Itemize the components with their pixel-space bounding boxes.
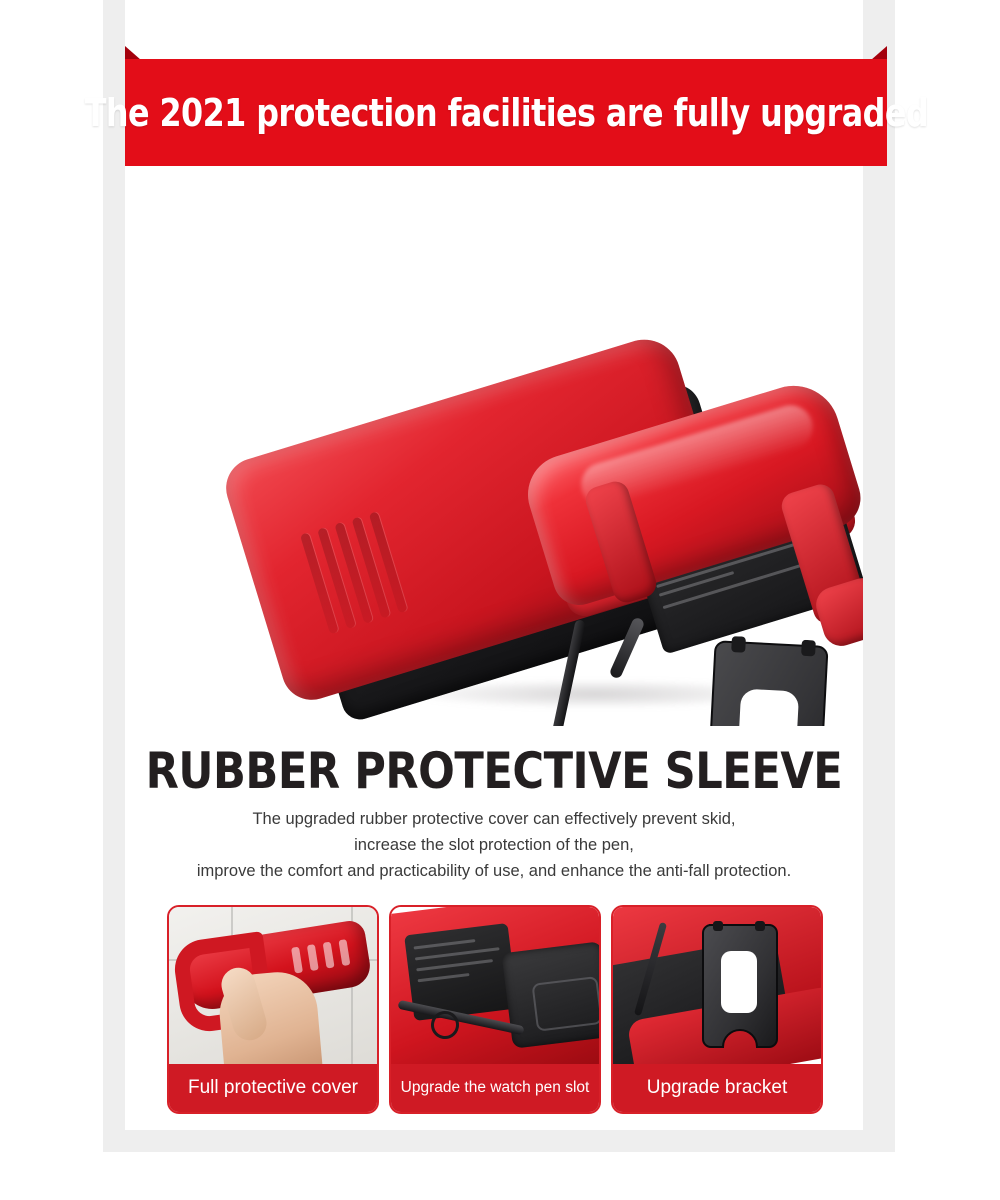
feature-caption: Full protective cover [169, 1064, 377, 1112]
banner-fold-left-icon [125, 46, 141, 60]
description-line-2: increase the slot protection of the pen, [125, 832, 863, 858]
product-marketing-page: The 2021 protection facilities are fully… [0, 0, 1000, 1200]
feature-card-watch-pen-slot[interactable]: Upgrade the watch pen slot [389, 905, 601, 1114]
banner-bar: The 2021 protection facilities are fully… [125, 59, 887, 166]
thumbnail-image-bracket [613, 907, 821, 1064]
description-line-3: improve the comfort and practicability o… [125, 858, 863, 884]
banner-fold-right-icon [871, 46, 887, 60]
right-gutter [863, 0, 895, 1152]
hero-product-image: WARNING [125, 186, 863, 726]
description-line-1: The upgraded rubber protective cover can… [125, 806, 863, 832]
feature-thumbnail-row: Full protective cover Upgrade the watch … [167, 905, 823, 1114]
left-gutter [103, 0, 125, 1152]
thumbnail-image-hand-holding-cover [169, 907, 377, 1064]
feature-card-full-protective-cover[interactable]: Full protective cover [167, 905, 379, 1114]
feature-caption: Upgrade the watch pen slot [391, 1064, 599, 1112]
banner-ribbon: The 2021 protection facilities are fully… [125, 46, 887, 166]
feature-card-upgrade-bracket[interactable]: Upgrade bracket [611, 905, 823, 1114]
thumbnail-image-pen-slot [391, 907, 599, 1064]
bottom-gutter [103, 1130, 895, 1152]
kickstand-bracket-closeup [691, 921, 787, 1061]
feature-caption: Upgrade bracket [613, 1064, 821, 1112]
banner-title: The 2021 protection facilities are fully… [84, 91, 927, 135]
kickstand-bracket [684, 634, 848, 726]
page-title: RUBBER PROTECTIVE SLEEVE [140, 742, 848, 800]
description-text: The upgraded rubber protective cover can… [125, 806, 863, 884]
